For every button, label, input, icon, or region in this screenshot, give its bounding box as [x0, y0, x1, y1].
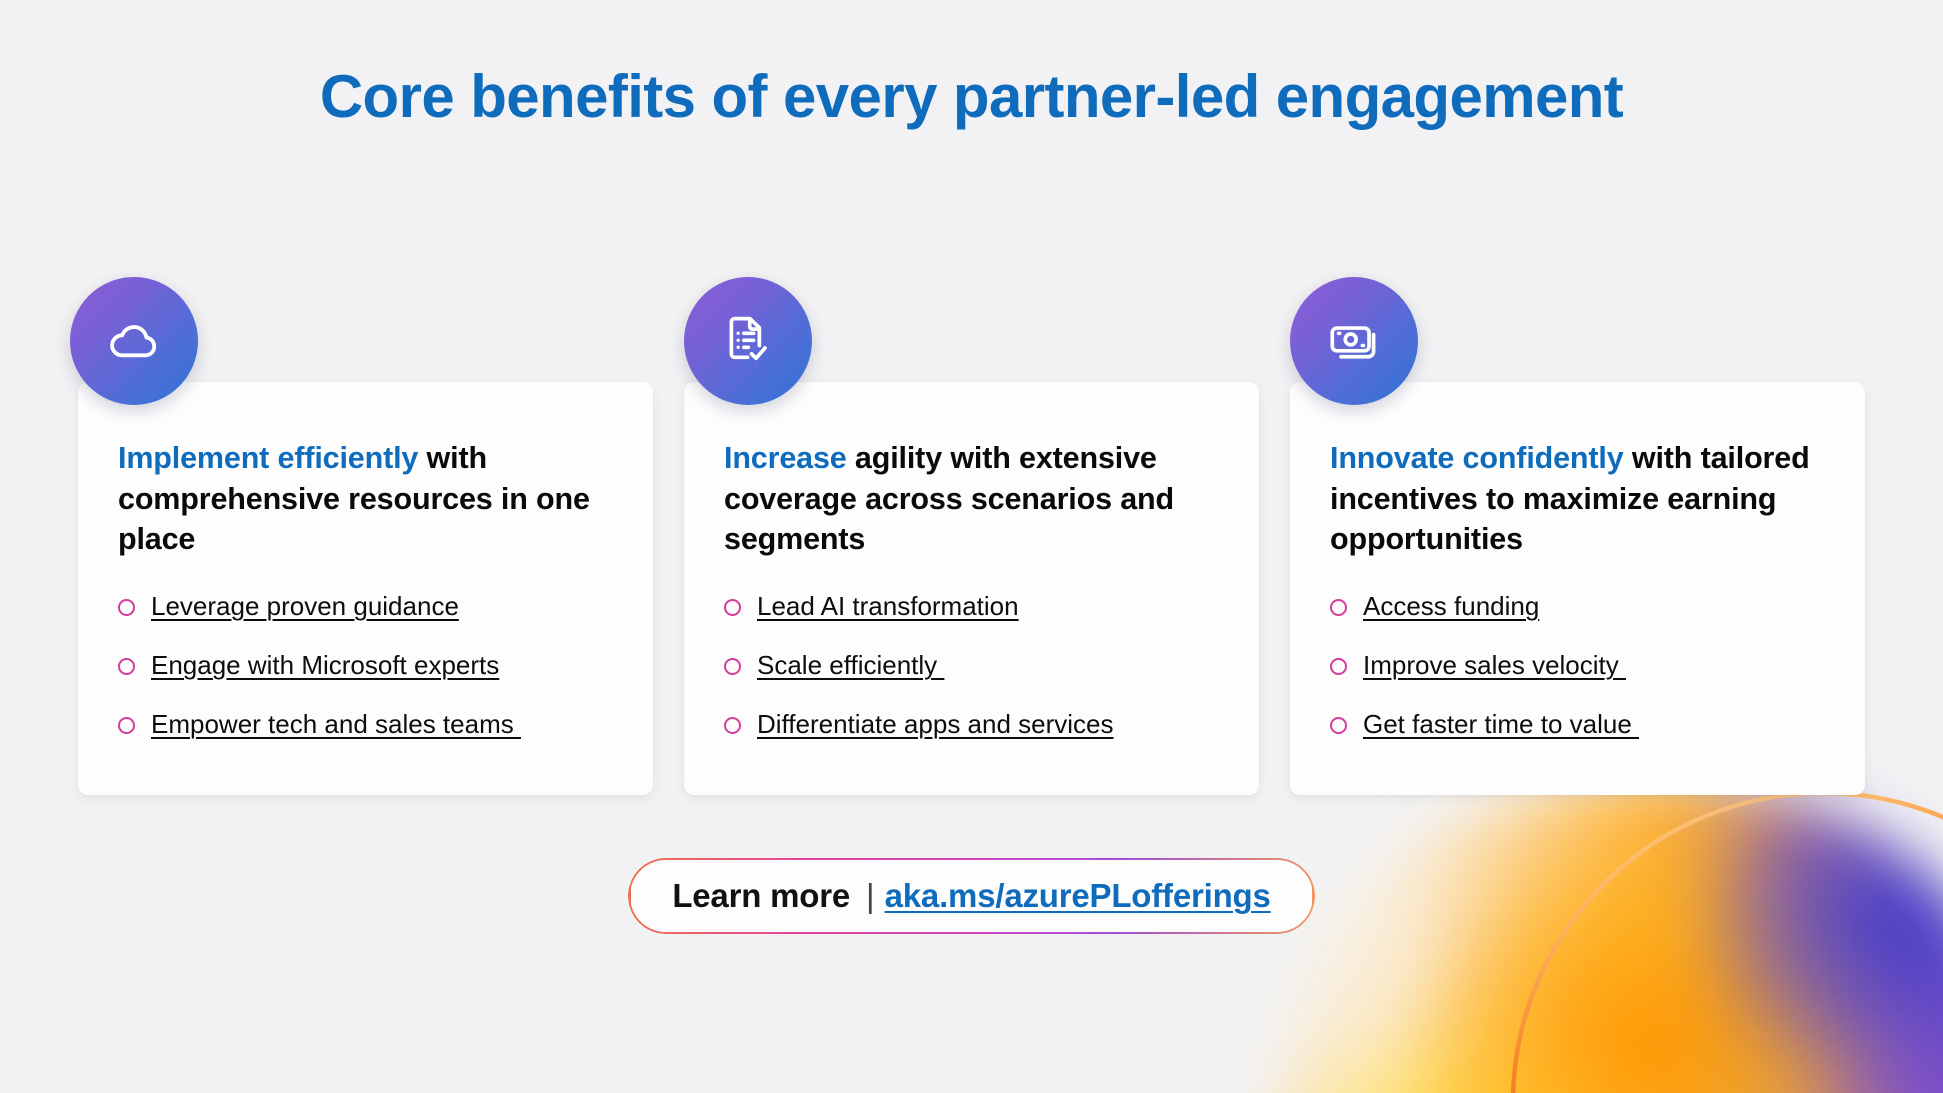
- list-item[interactable]: Differentiate apps and services: [724, 708, 1219, 741]
- benefit-link[interactable]: Lead AI transformation: [757, 590, 1019, 623]
- card-heading: Increase agility with extensive coverage…: [724, 438, 1219, 560]
- list-item[interactable]: Engage with Microsoft experts: [118, 649, 613, 682]
- card-heading: Innovate confidently with tailored incen…: [1330, 438, 1825, 560]
- cta-link[interactable]: aka.ms/azurePLofferings: [885, 877, 1271, 915]
- benefit-link-list: Lead AI transformation Scale efficiently…: [724, 590, 1219, 742]
- list-item[interactable]: Scale efficiently: [724, 649, 1219, 682]
- ring-bullet-icon: [118, 717, 135, 734]
- ring-bullet-icon: [724, 599, 741, 616]
- ring-bullet-icon: [118, 658, 135, 675]
- benefit-card: Innovate confidently with tailored incen…: [1290, 382, 1865, 795]
- benefit-link[interactable]: Improve sales velocity: [1363, 649, 1626, 682]
- benefit-link[interactable]: Differentiate apps and services: [757, 708, 1114, 741]
- money-icon: [1290, 277, 1418, 405]
- learn-more-label: Learn more: [672, 877, 850, 915]
- learn-more-button[interactable]: Learn more | aka.ms/azurePLofferings: [628, 858, 1314, 934]
- ring-bullet-icon: [118, 599, 135, 616]
- benefit-link[interactable]: Scale efficiently: [757, 649, 944, 682]
- card-heading-highlight: Innovate confidently: [1330, 441, 1624, 475]
- benefit-link[interactable]: Empower tech and sales teams: [151, 708, 521, 741]
- list-item[interactable]: Empower tech and sales teams: [118, 708, 613, 741]
- list-item[interactable]: Improve sales velocity: [1330, 649, 1825, 682]
- card-heading-highlight: Implement efficiently: [118, 441, 418, 475]
- cta-separator: |: [850, 877, 885, 915]
- benefit-link-list: Leverage proven guidance Engage with Mic…: [118, 590, 613, 742]
- list-item[interactable]: Get faster time to value: [1330, 708, 1825, 741]
- list-item[interactable]: Access funding: [1330, 590, 1825, 623]
- ring-bullet-icon: [724, 717, 741, 734]
- page-title: Core benefits of every partner-led engag…: [0, 62, 1943, 131]
- clipboard-check-icon: [684, 277, 812, 405]
- benefit-link[interactable]: Engage with Microsoft experts: [151, 649, 499, 682]
- benefit-card: Increase agility with extensive coverage…: [684, 382, 1259, 795]
- benefit-cards-row: Implement efficiently with comprehensive…: [0, 382, 1943, 795]
- cta-row: Learn more | aka.ms/azurePLofferings: [0, 858, 1943, 934]
- benefit-link-list: Access funding Improve sales velocity Ge…: [1330, 590, 1825, 742]
- ring-bullet-icon: [1330, 717, 1347, 734]
- benefit-link[interactable]: Get faster time to value: [1363, 708, 1639, 741]
- list-item[interactable]: Leverage proven guidance: [118, 590, 613, 623]
- ring-bullet-icon: [1330, 599, 1347, 616]
- ring-bullet-icon: [724, 658, 741, 675]
- benefit-card: Implement efficiently with comprehensive…: [78, 382, 653, 795]
- benefit-link[interactable]: Access funding: [1363, 590, 1539, 623]
- card-heading-highlight: Increase: [724, 441, 847, 475]
- ring-bullet-icon: [1330, 658, 1347, 675]
- benefit-link[interactable]: Leverage proven guidance: [151, 590, 459, 623]
- card-heading: Implement efficiently with comprehensive…: [118, 438, 613, 560]
- list-item[interactable]: Lead AI transformation: [724, 590, 1219, 623]
- cloud-icon: [70, 277, 198, 405]
